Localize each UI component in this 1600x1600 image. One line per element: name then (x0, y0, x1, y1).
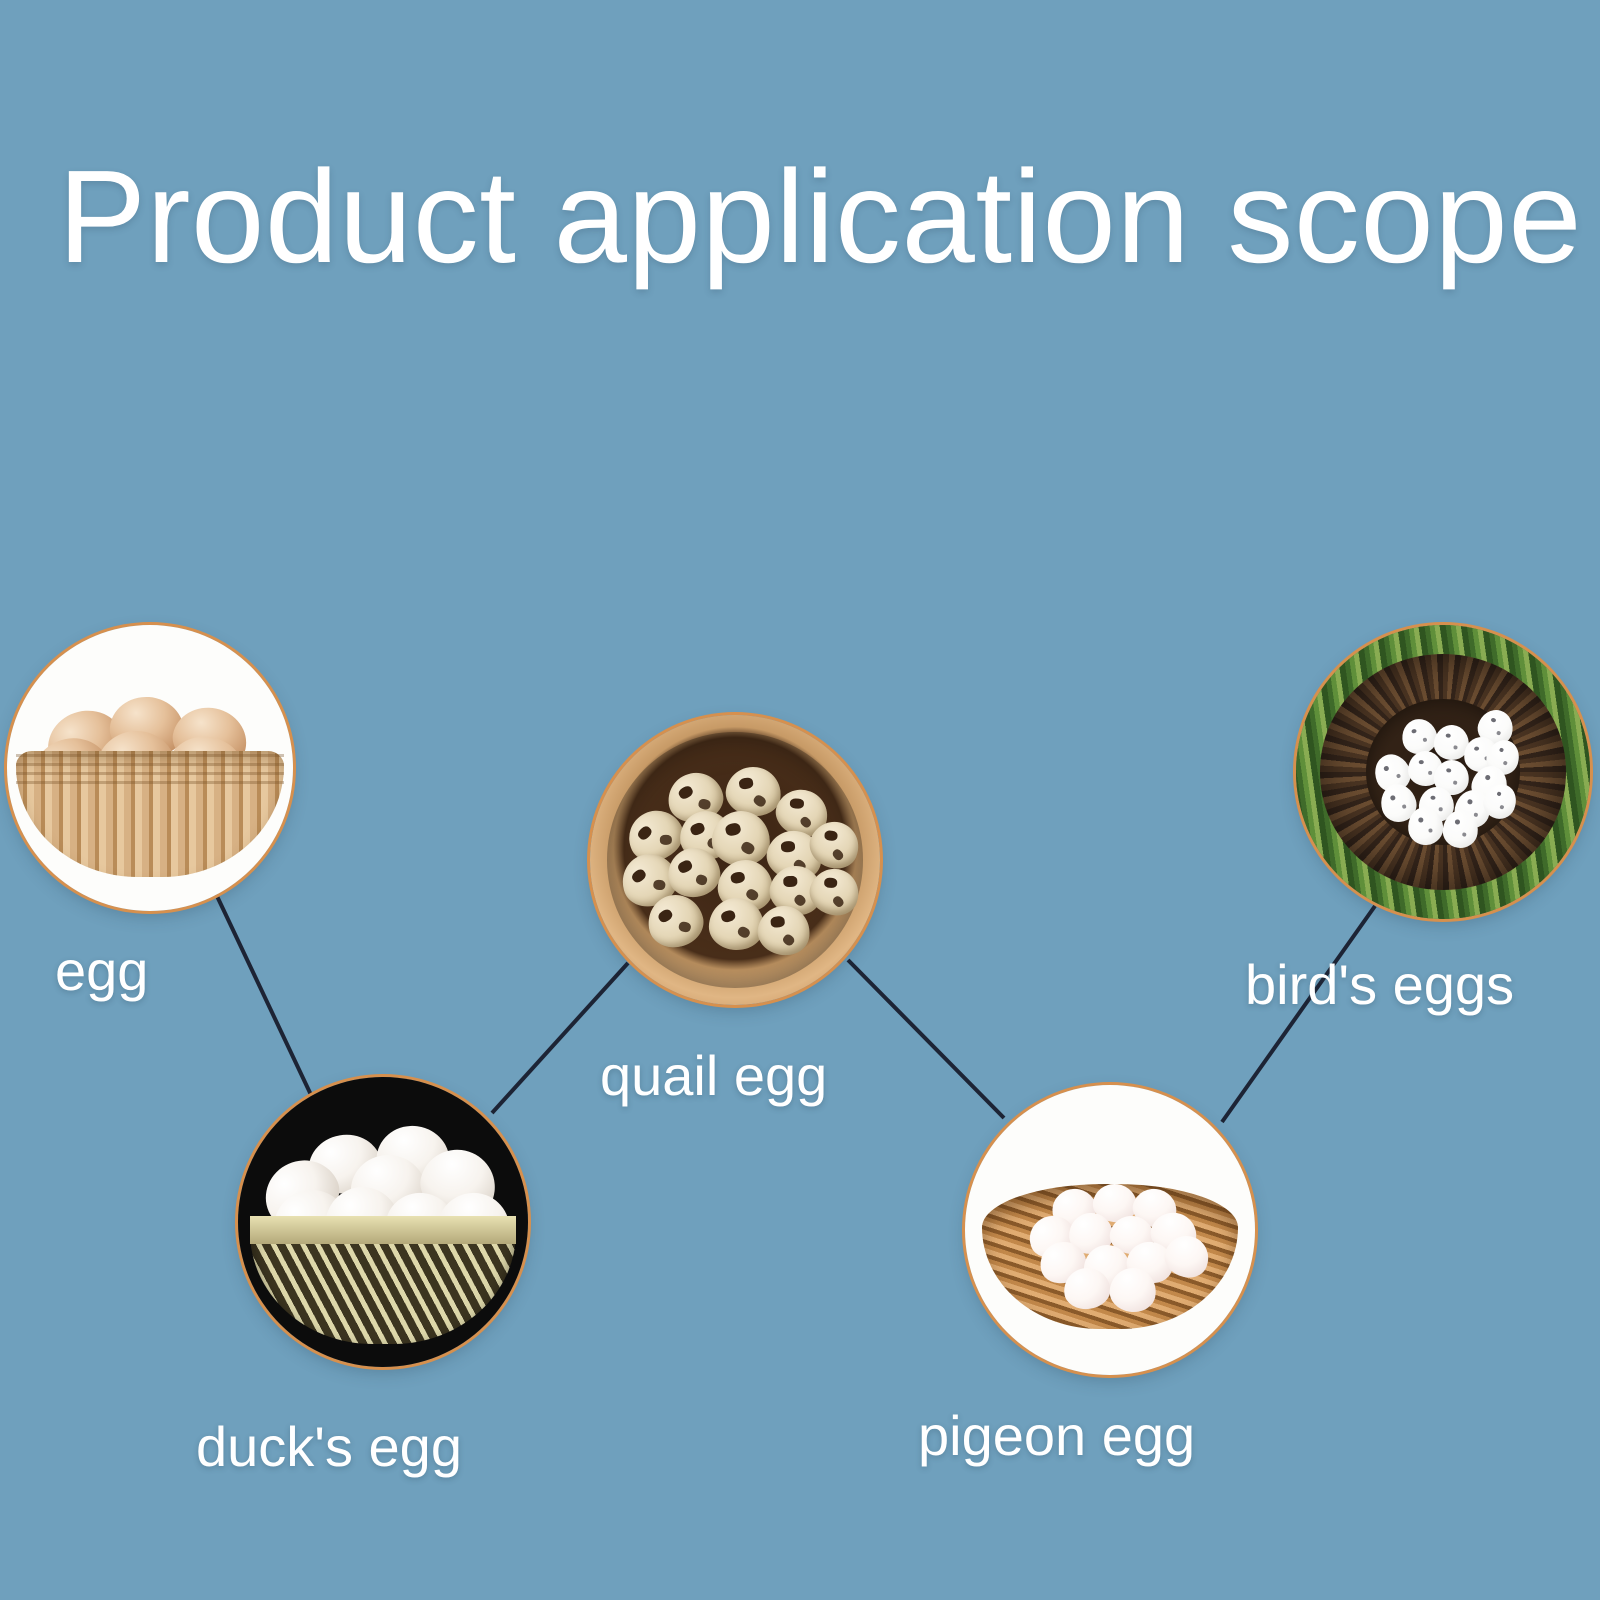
pigeon-egg-photo-disc[interactable] (965, 1085, 1255, 1375)
node-label-quail-egg: quail egg (600, 1043, 827, 1108)
birds-eggs-photo-disc[interactable] (1296, 625, 1590, 919)
egg-photo-disc[interactable] (7, 625, 293, 911)
chicken-eggs-photo (7, 625, 293, 911)
page-title: Product application scope (58, 148, 1582, 287)
quail-eggs-photo (590, 715, 880, 1005)
node-label-egg: egg (55, 938, 148, 1003)
infographic-canvas: Product application scope (0, 0, 1600, 1600)
node-label-pigeon-egg: pigeon egg (918, 1403, 1195, 1468)
node-label-ducks-egg: duck's egg (196, 1414, 462, 1479)
bird-eggs-nest-photo (1296, 625, 1590, 919)
ducks-egg-photo-disc[interactable] (238, 1077, 528, 1367)
duck-eggs-photo (238, 1077, 528, 1367)
node-label-birds-eggs: bird's eggs (1245, 952, 1514, 1017)
quail-egg-photo-disc[interactable] (590, 715, 880, 1005)
pigeon-eggs-photo (965, 1085, 1255, 1375)
connector-egg-to-ducks-egg (216, 894, 312, 1097)
